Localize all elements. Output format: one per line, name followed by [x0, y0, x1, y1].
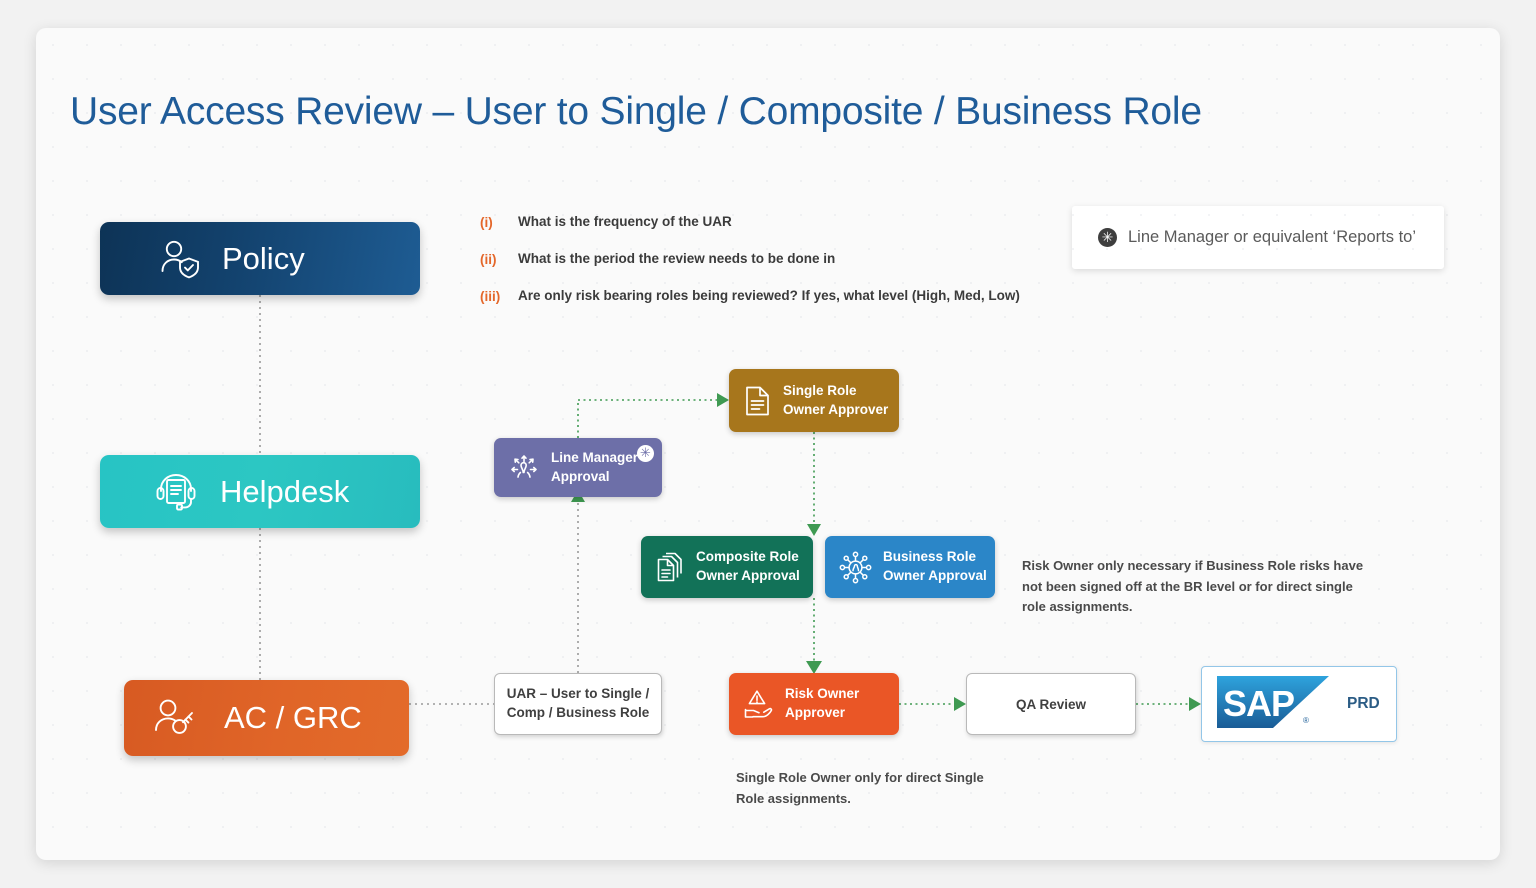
node-composite-role-owner-approval[interactable]: Composite Role Owner Approval — [641, 536, 813, 598]
arrowhead-singlerole — [717, 393, 729, 407]
node-single-role-owner-approver[interactable]: Single Role Owner Approver — [729, 369, 899, 432]
lane-label-acgrc: AC / GRC — [224, 700, 362, 736]
label-line-1: Line Manager — [551, 450, 638, 465]
node-uar[interactable]: UAR – User to Single / Comp / Business R… — [494, 673, 662, 735]
node-label-uar: UAR – User to Single / Comp / Business R… — [507, 685, 650, 723]
label-line-2: Approval — [551, 469, 610, 484]
node-line-manager-approval[interactable]: Line Manager Approval ✳ — [494, 438, 662, 497]
label-line-1: Single Role — [783, 383, 857, 398]
lane-label-helpdesk: Helpdesk — [220, 474, 349, 510]
node-risk-owner-approver[interactable]: Risk Owner Approver — [729, 673, 899, 735]
svg-text:®: ® — [1303, 716, 1309, 725]
network-person-icon — [839, 551, 872, 584]
label-line-1: Composite Role — [696, 549, 799, 564]
arrowhead-qa — [954, 697, 966, 711]
headset-document-icon — [152, 469, 200, 515]
label-line-2: Comp / Business Role — [507, 705, 650, 720]
svg-text:SAP: SAP — [1223, 683, 1294, 724]
person-shield-icon — [158, 238, 202, 280]
person-key-icon — [152, 696, 198, 740]
arrowhead-role-split — [807, 524, 821, 536]
node-label-qa-review: QA Review — [1016, 697, 1086, 712]
label-line-1: Business Role — [883, 549, 976, 564]
label-line-2: Owner Approval — [696, 568, 800, 583]
slide-canvas: User Access Review – User to Single / Co… — [36, 28, 1500, 860]
label-line-2: Owner Approver — [783, 402, 888, 417]
node-label-single-role: Single Role Owner Approver — [783, 382, 888, 419]
asterisk-icon: ✳ — [637, 445, 654, 462]
node-asterisk-badge: ✳ — [637, 445, 654, 462]
lane-policy[interactable]: Policy — [100, 222, 420, 295]
risk-hand-icon — [743, 688, 774, 720]
node-label-risk-owner: Risk Owner Approver — [785, 685, 859, 722]
node-sap-prd[interactable]: SAP ® PRD — [1201, 666, 1397, 742]
node-business-role-owner-approval[interactable]: Business Role Owner Approval — [825, 536, 995, 598]
lane-acgrc[interactable]: AC / GRC — [124, 680, 409, 756]
node-qa-review[interactable]: QA Review — [966, 673, 1136, 735]
label-line-1: UAR – User to Single / — [507, 686, 650, 701]
document-icon — [743, 385, 772, 417]
label-line-2: Owner Approval — [883, 568, 987, 583]
documents-stack-icon — [655, 551, 685, 583]
label-line-2: Approver — [785, 705, 845, 720]
node-label-composite-role: Composite Role Owner Approval — [696, 548, 800, 585]
sap-environment-label: PRD — [1347, 695, 1380, 713]
node-label-business-role: Business Role Owner Approval — [883, 548, 987, 585]
label-line-1: Risk Owner — [785, 686, 859, 701]
sap-logo: SAP ® — [1217, 676, 1329, 733]
line-manager-icon — [508, 453, 540, 483]
lane-label-policy: Policy — [222, 241, 305, 277]
arrowhead-sap — [1189, 697, 1201, 711]
node-label-line-manager: Line Manager Approval — [551, 449, 638, 486]
lane-helpdesk[interactable]: Helpdesk — [100, 455, 420, 528]
